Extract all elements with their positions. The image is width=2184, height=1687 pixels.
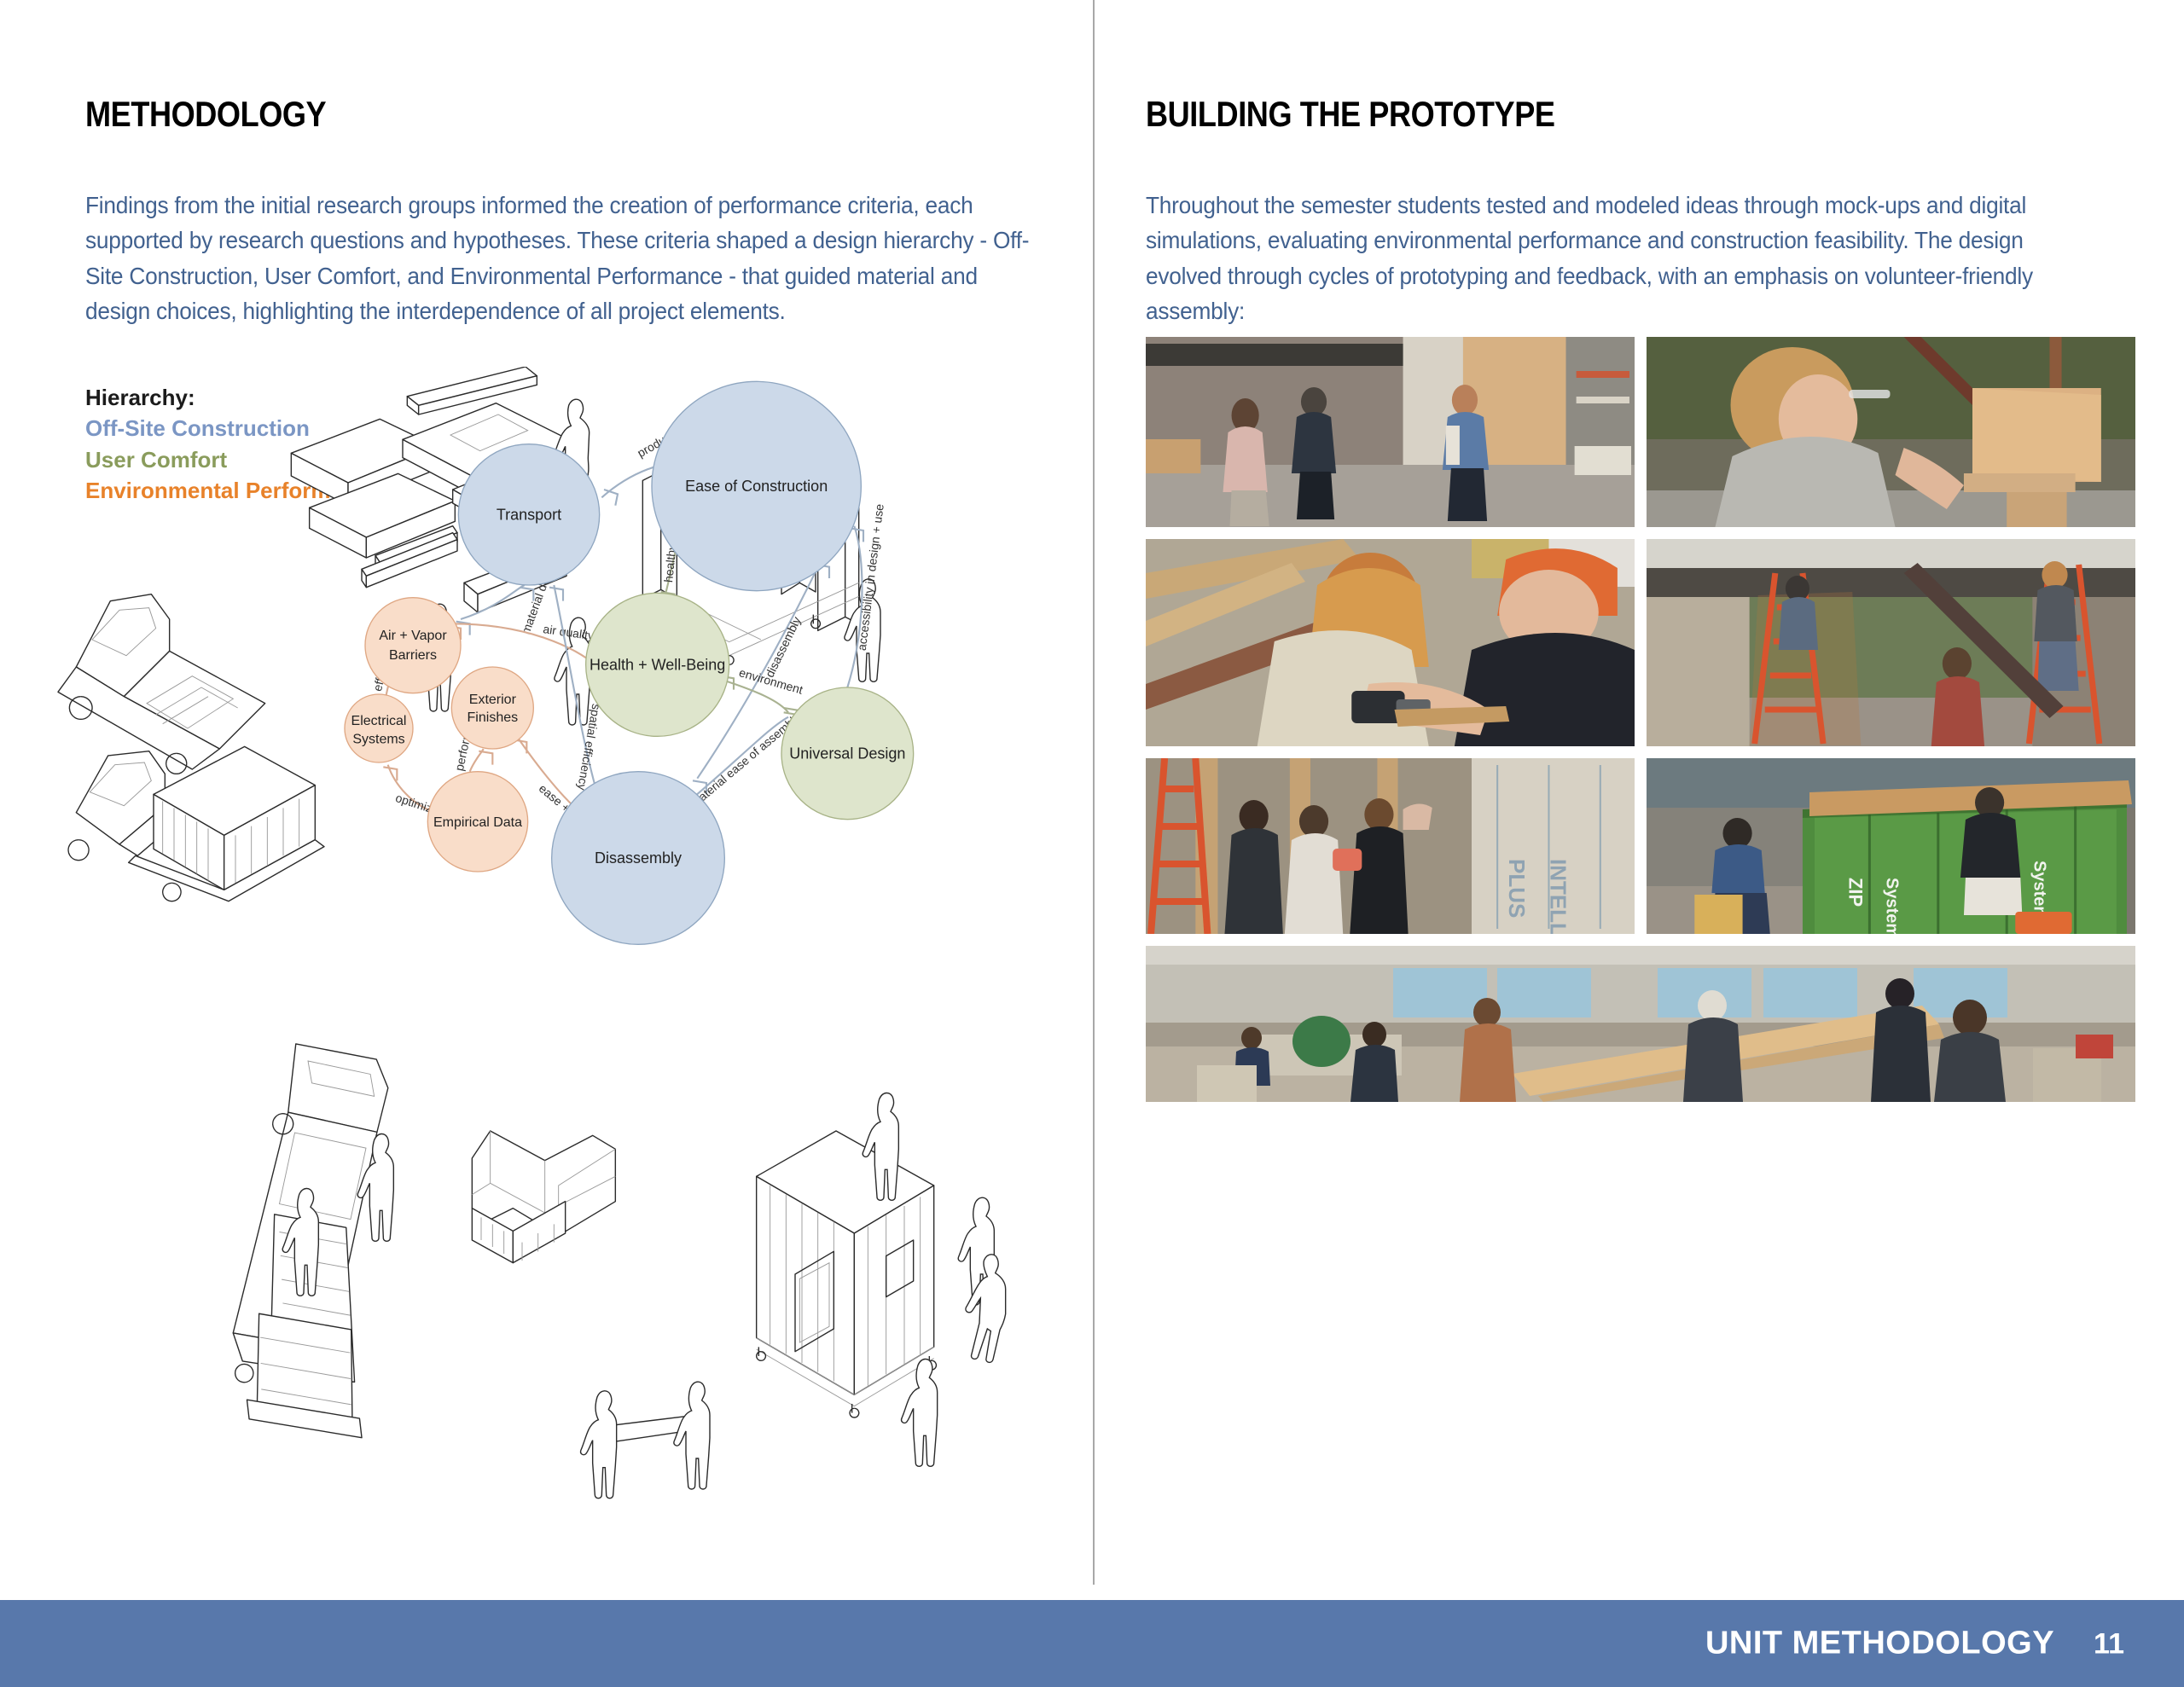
node-electrical-systems: Electrical Systems (345, 694, 413, 762)
photo-zip-system-panel: ZIP System System (1647, 758, 2135, 934)
node-disassembly: Disassembly (552, 772, 725, 945)
illustration-exploded-module-plan (472, 1131, 615, 1263)
performance-criteria-diagram: .il { fill:none; stroke:#2b2b2b; stroke-… (51, 367, 1075, 1578)
page-title-methodology: METHODOLOGY (85, 94, 937, 135)
footer-page-number: 11 (2094, 1628, 2124, 1661)
node-label-exterior-finishes-line1: Exterior (469, 693, 517, 707)
photo-group-insulation-wall: PLUS INTELLO (1146, 758, 1635, 934)
document-page: METHODOLOGY Findings from the initial re… (0, 0, 2184, 1687)
node-label-universal-design: Universal Design (789, 745, 905, 762)
photo-ladders-wall-assembly (1647, 539, 2135, 746)
photo-shop-cutting-lumber (1146, 946, 2135, 1102)
methodology-body-text: Findings from the initial research group… (85, 188, 1031, 328)
node-label-air-vapor-barriers-line2: Barriers (389, 648, 437, 663)
node-label-transport: Transport (497, 506, 561, 523)
left-column: METHODOLOGY Findings from the initial re… (85, 0, 1075, 1585)
photo-row-1 (1146, 337, 2135, 527)
page-title-building-the-prototype: BUILDING THE PROTOTYPE (1146, 94, 1997, 135)
footer-section-title: UNIT METHODOLOGY (1705, 1626, 2054, 1662)
node-label-exterior-finishes-line2: Finishes (468, 710, 519, 725)
svg-text:PLUS: PLUS (1504, 859, 1530, 918)
illustration-flatbed-truck-with-panels (58, 594, 265, 774)
illustration-tilted-truck-unloading (202, 1039, 452, 1446)
illustration-figures-carrying-plank (581, 1382, 710, 1499)
node-ease-of-construction: Ease of Construction (652, 381, 861, 590)
page-footer: UNIT METHODOLOGY 11 (0, 1600, 2184, 1687)
node-label-health-well-being: Health + Well-Being (590, 656, 725, 673)
right-column: BUILDING THE PROTOTYPE Throughout the se… (1146, 0, 2135, 1585)
photo-row-4 (1146, 946, 2135, 1102)
node-health-well-being: Health + Well-Being (586, 593, 729, 736)
prototype-body-text: Throughout the semester students tested … (1146, 188, 2091, 328)
node-label-electrical-systems-line2: Systems (352, 733, 404, 747)
node-label-electrical-systems-line1: Electrical (351, 714, 407, 728)
node-empirical-data: Empirical Data (427, 772, 527, 872)
photo-row-3: PLUS INTELLO (1146, 758, 2135, 934)
photo-student-lifting-panel (1647, 337, 2135, 527)
illustration-assembled-module-unit (757, 1093, 995, 1466)
photo-drilling-timber-frame (1146, 539, 1635, 746)
photo-workshop-plywood-review (1146, 337, 1635, 527)
node-exterior-finishes: Exterior Finishes (451, 667, 533, 749)
node-transport: Transport (458, 444, 599, 585)
node-label-air-vapor-barriers-line1: Air + Vapor (379, 629, 447, 643)
node-universal-design: Universal Design (781, 687, 914, 820)
photo-row-2 (1146, 539, 2135, 746)
svg-text:INTELLO: INTELLO (1545, 859, 1571, 934)
node-label-empirical-data: Empirical Data (433, 815, 522, 830)
illustration-truck-with-module (68, 746, 324, 901)
svg-text:ZIP: ZIP (1844, 878, 1866, 907)
footer-content: UNIT METHODOLOGY 11 (1705, 1626, 2124, 1662)
node-label-disassembly: Disassembly (595, 849, 682, 867)
svg-text:System: System (1882, 878, 1901, 934)
node-label-ease-of-construction: Ease of Construction (685, 478, 828, 495)
node-air-vapor-barriers: Air + Vapor Barriers (365, 598, 461, 693)
column-divider (1093, 0, 1095, 1585)
prototype-photo-grid: PLUS INTELLO (1146, 337, 2135, 1114)
